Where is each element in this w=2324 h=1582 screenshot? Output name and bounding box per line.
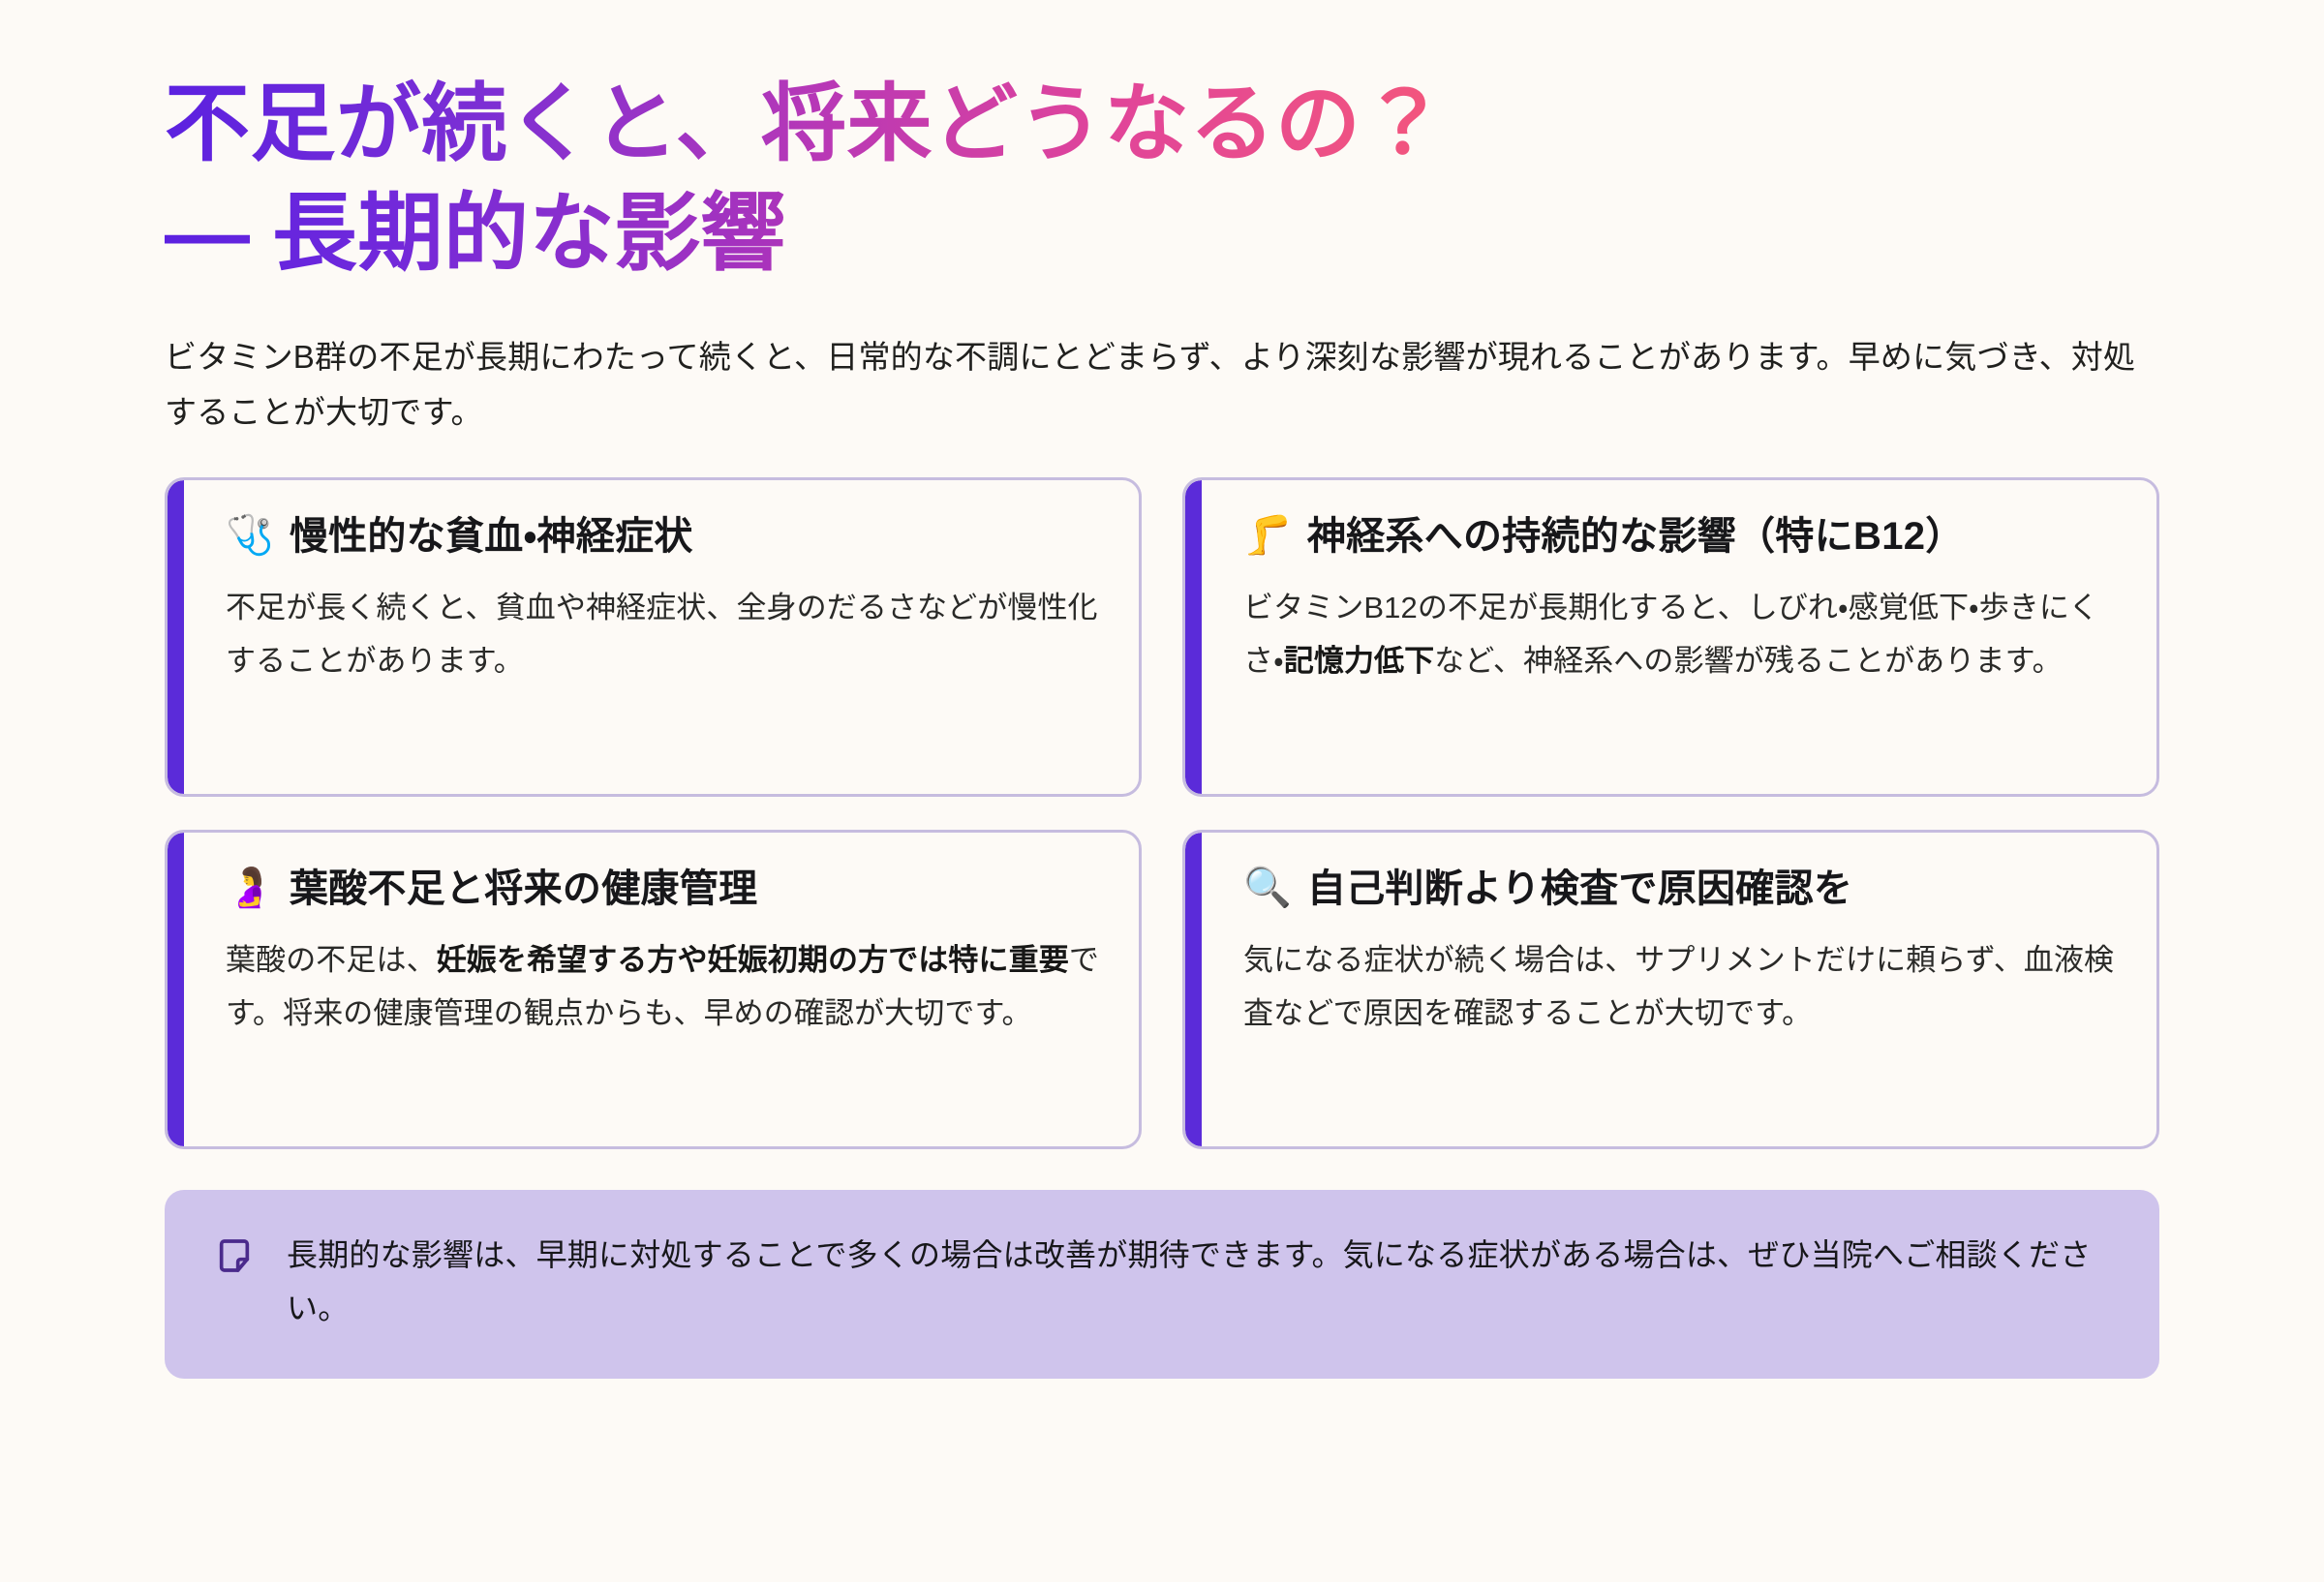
- card-accent-bar: [1185, 833, 1202, 1146]
- callout-text: 長期的な影響は、早期に対処することで多くの場合は改善が期待できます。気になる症状…: [287, 1229, 2101, 1336]
- title-dash: —: [165, 185, 248, 281]
- card-title: 神経系への持続的な影響（特にB12）: [1307, 513, 1965, 560]
- page-subtitle-text: 長期的な影響: [248, 185, 786, 281]
- intro-paragraph: ビタミンB群の不足が長期にわたって続くと、日常的な不調にとどまらず、より深刻な影…: [165, 330, 2159, 441]
- magnifying-glass-icon: 🔍: [1243, 866, 1292, 910]
- card-header: 🤰 葉酸不足と将来の健康管理: [226, 866, 1100, 912]
- card-body: 葉酸の不足は、妊娠を希望する方や妊娠初期の方では特に重要です。将来の健康管理の観…: [226, 933, 1100, 1040]
- pregnant-woman-icon: 🤰: [226, 866, 274, 910]
- card-nervous-system-b12: 🦵 神経系への持続的な影響（特にB12） ビタミンB12の不足が長期化すると、し…: [1182, 477, 2159, 797]
- card-title: 慢性的な貧血・神経症状: [290, 513, 693, 560]
- card-get-tested: 🔍 自己判断より検査で原因確認を 気になる症状が続く場合は、サプリメントだけに頼…: [1182, 830, 2159, 1149]
- card-body: 不足が長く続くと、貧血や神経症状、全身のだるさなどが慢性化することがあります。: [226, 581, 1100, 687]
- card-header: 🦵 神経系への持続的な影響（特にB12）: [1243, 513, 2118, 560]
- leg-icon: 🦵: [1243, 513, 1292, 558]
- card-header: 🔍 自己判断より検査で原因確認を: [1243, 866, 2118, 912]
- page-title-line-1: 不足が続くと、将来どうなるの？: [165, 70, 2159, 179]
- callout-banner: 長期的な影響は、早期に対処することで多くの場合は改善が期待できます。気になる症状…: [165, 1190, 2159, 1379]
- stethoscope-icon: 🩺: [226, 513, 274, 558]
- card-body: ビタミンB12の不足が長期化すると、しびれ・感覚低下・歩きにくさ・記憶力低下など…: [1243, 581, 2118, 687]
- title-block: 不足が続くと、将来どうなるの？ — 長期的な影響: [165, 0, 2159, 288]
- card-header: 🩺 慢性的な貧血・神経症状: [226, 513, 1100, 560]
- card-accent-bar: [1185, 480, 1202, 794]
- card-chronic-anemia: 🩺 慢性的な貧血・神経症状 不足が長く続くと、貧血や神経症状、全身のだるさなどが…: [165, 477, 1142, 797]
- card-grid: 🩺 慢性的な貧血・神経症状 不足が長く続くと、貧血や神経症状、全身のだるさなどが…: [165, 477, 2159, 1149]
- page-title-line-2: — 長期的な影響: [165, 179, 2159, 289]
- card-accent-bar: [168, 833, 184, 1146]
- card-body: 気になる症状が続く場合は、サプリメントだけに頼らず、血液検査などで原因を確認する…: [1243, 933, 2118, 1040]
- card-title: 自己判断より検査で原因確認を: [1307, 866, 1852, 912]
- slide-root: 不足が続くと、将来どうなるの？ — 長期的な影響 ビタミンB群の不足が長期にわた…: [0, 0, 2324, 1582]
- sticky-note-icon: [215, 1236, 254, 1280]
- card-accent-bar: [168, 480, 184, 794]
- card-title: 葉酸不足と将来の健康管理: [290, 866, 758, 912]
- card-folate-health: 🤰 葉酸不足と将来の健康管理 葉酸の不足は、妊娠を希望する方や妊娠初期の方では特…: [165, 830, 1142, 1149]
